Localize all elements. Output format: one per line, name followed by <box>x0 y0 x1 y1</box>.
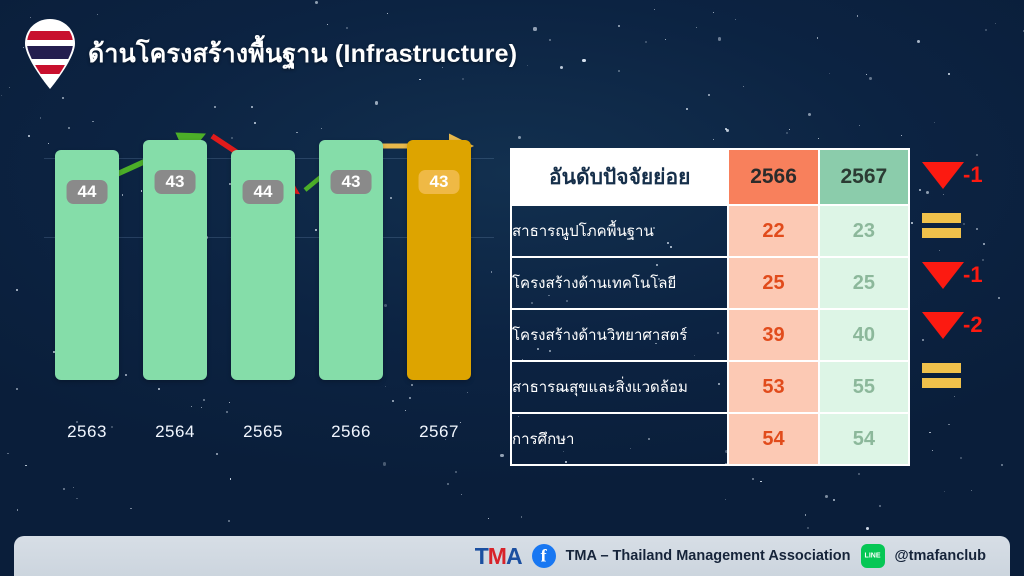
row-value-2566: 25 <box>728 257 818 309</box>
bar-value-badge: 43 <box>331 170 372 194</box>
equals-icon <box>922 213 961 238</box>
equals-icon <box>922 363 961 388</box>
delta-row: -1 <box>922 150 1022 200</box>
tma-logo-accent: M <box>488 543 506 569</box>
row-value-2567: 54 <box>819 413 909 465</box>
slide-canvas: ด้านโครงสร้างพื้นฐาน (Infrastructure) <box>0 0 1024 576</box>
x-axis-label-2566: 2566 <box>331 422 371 442</box>
triangle-down-icon <box>922 162 964 189</box>
row-value-2566: 39 <box>728 309 818 361</box>
bar-group-2566: 432566 <box>319 140 383 442</box>
bar-group-2563: 442563 <box>55 150 119 442</box>
header-cell-label: อันดับปัจจัยย่อย <box>511 149 728 205</box>
bar-group-2565: 442565 <box>231 150 295 442</box>
header: ด้านโครงสร้างพื้นฐาน (Infrastructure) <box>24 18 517 90</box>
header-cell-2567: 2567 <box>819 149 909 205</box>
header-cell-2566: 2566 <box>728 149 818 205</box>
line-icon[interactable] <box>861 544 885 568</box>
row-value-2566: 22 <box>728 205 818 257</box>
x-axis-label-2564: 2564 <box>155 422 195 442</box>
table-row: สาธารณูปโภคพื้นฐาน2223 <box>511 205 909 257</box>
delta-value: -1 <box>963 164 983 186</box>
table-header-row: อันดับปัจจัยย่อย 2566 2567 <box>511 149 909 205</box>
table-body: สาธารณูปโภคพื้นฐาน2223โครงสร้างด้านเทคโน… <box>511 205 909 465</box>
row-label: โครงสร้างด้านวิทยาศาสตร์ <box>511 309 728 361</box>
subfactor-rank-table: อันดับปัจจัยย่อย 2566 2567 สาธารณูปโภคพื… <box>510 148 910 466</box>
table-row: สาธารณสุขและสิ่งแวดล้อม5355 <box>511 361 909 413</box>
delta-value: -1 <box>963 264 983 286</box>
table-row: โครงสร้างด้านวิทยาศาสตร์3940 <box>511 309 909 361</box>
x-axis-label-2563: 2563 <box>67 422 107 442</box>
row-label: การศึกษา <box>511 413 728 465</box>
footer-bar: TMA TMA – Thailand Management Associatio… <box>14 536 1010 576</box>
table-row: การศึกษา5454 <box>511 413 909 465</box>
delta-row <box>922 200 1022 250</box>
bar-value-badge: 44 <box>67 180 108 204</box>
bar-value-badge: 43 <box>155 170 196 194</box>
table-row: โครงสร้างด้านเทคโนโลยี2525 <box>511 257 909 309</box>
tma-logo: TMA <box>475 545 522 568</box>
page-title: ด้านโครงสร้างพื้นฐาน (Infrastructure) <box>88 34 517 74</box>
line-account-name: @tmafanclub <box>895 548 986 564</box>
row-value-2566: 54 <box>728 413 818 465</box>
delta-indicator-group: -1-1-2 <box>922 150 1022 400</box>
x-axis-label-2567: 2567 <box>419 422 459 442</box>
row-value-2567: 40 <box>819 309 909 361</box>
thailand-flag-pin-icon <box>24 18 76 90</box>
row-label: โครงสร้างด้านเทคโนโลยี <box>511 257 728 309</box>
row-value-2566: 53 <box>728 361 818 413</box>
triangle-down-icon <box>922 312 964 339</box>
delta-row: -1 <box>922 250 1022 300</box>
row-label: สาธารณูปโภคพื้นฐาน <box>511 205 728 257</box>
row-value-2567: 55 <box>819 361 909 413</box>
delta-row <box>922 350 1022 400</box>
row-value-2567: 25 <box>819 257 909 309</box>
bar-group-2564: 432564 <box>143 140 207 442</box>
row-label: สาธารณสุขและสิ่งแวดล้อม <box>511 361 728 413</box>
bar-value-badge: 43 <box>419 170 460 194</box>
triangle-down-icon <box>922 262 964 289</box>
x-axis-label-2565: 2565 <box>243 422 283 442</box>
bar-group-2567: 432567 <box>407 140 471 442</box>
facebook-page-name: TMA – Thailand Management Association <box>566 548 851 564</box>
bar-value-badge: 44 <box>243 180 284 204</box>
facebook-icon[interactable] <box>532 544 556 568</box>
bar-chart: 442563432564442565432566432567 <box>44 130 494 500</box>
bar-group: 442563432564442565432566432567 <box>44 130 494 470</box>
row-value-2567: 23 <box>819 205 909 257</box>
delta-value: -2 <box>963 314 983 336</box>
delta-row: -2 <box>922 300 1022 350</box>
